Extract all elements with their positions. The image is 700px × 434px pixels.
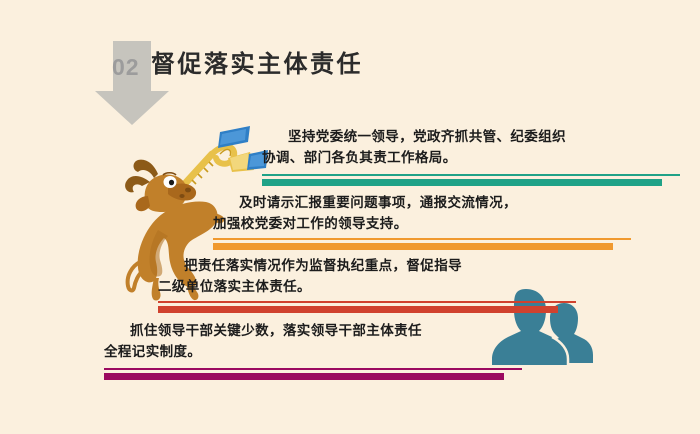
content-line-3a: 把责任落实情况作为监督执纪重点，督促指导 (158, 255, 462, 276)
content-line-3b: 二级单位落实主体责任。 (158, 276, 462, 297)
content-block-2: 及时请示汇报重要问题事项，通报交流情况， 加强校党委对工作的领导支持。 (213, 192, 517, 234)
content-block-1: 坚持党委统一领导，党政齐抓共管、纪委组织 协调、部门各负其责工作格局。 (262, 126, 566, 168)
content-line-4a: 抓住领导干部关键少数，落实领导干部主体责任 (104, 320, 422, 341)
slide-canvas: 02 督促落实主体责任 (0, 0, 700, 434)
divider-bar-1 (262, 174, 680, 186)
content-text-2: 及时请示汇报重要问题事项，通报交流情况， 加强校党委对工作的领导支持。 (213, 192, 517, 234)
divider-bar-4-thick (104, 373, 504, 380)
divider-bar-4 (104, 368, 522, 380)
divider-bar-1-thick (262, 179, 662, 186)
divider-bar-3 (158, 301, 576, 313)
divider-bar-2-thick (213, 243, 613, 250)
content-text-1: 坚持党委统一领导，党政齐抓共管、纪委组织 协调、部门各负其责工作格局。 (262, 126, 566, 168)
content-line-2a: 及时请示汇报重要问题事项，通报交流情况， (213, 192, 517, 213)
content-text-3: 把责任落实情况作为监督执纪重点，督促指导 二级单位落实主体责任。 (158, 255, 462, 297)
content-block-3: 把责任落实情况作为监督执纪重点，督促指导 二级单位落实主体责任。 (158, 255, 462, 297)
divider-bar-2 (213, 238, 631, 250)
content-line-4b: 全程记实制度。 (104, 341, 422, 362)
content-line-2b: 加强校党委对工作的领导支持。 (213, 213, 517, 234)
two-people-silhouette-icon (492, 285, 600, 367)
divider-bar-3-thick (158, 306, 558, 313)
content-line-1b: 协调、部门各负其责工作格局。 (262, 147, 566, 168)
content-text-4: 抓住领导干部关键少数，落实领导干部主体责任 全程记实制度。 (104, 320, 422, 362)
section-number: 02 (112, 56, 140, 79)
content-block-4: 抓住领导干部关键少数，落实领导干部主体责任 全程记实制度。 (104, 320, 422, 362)
page-title: 督促落实主体责任 (151, 52, 363, 78)
content-line-1a: 坚持党委统一领导，党政齐抓共管、纪委组织 (262, 126, 566, 147)
